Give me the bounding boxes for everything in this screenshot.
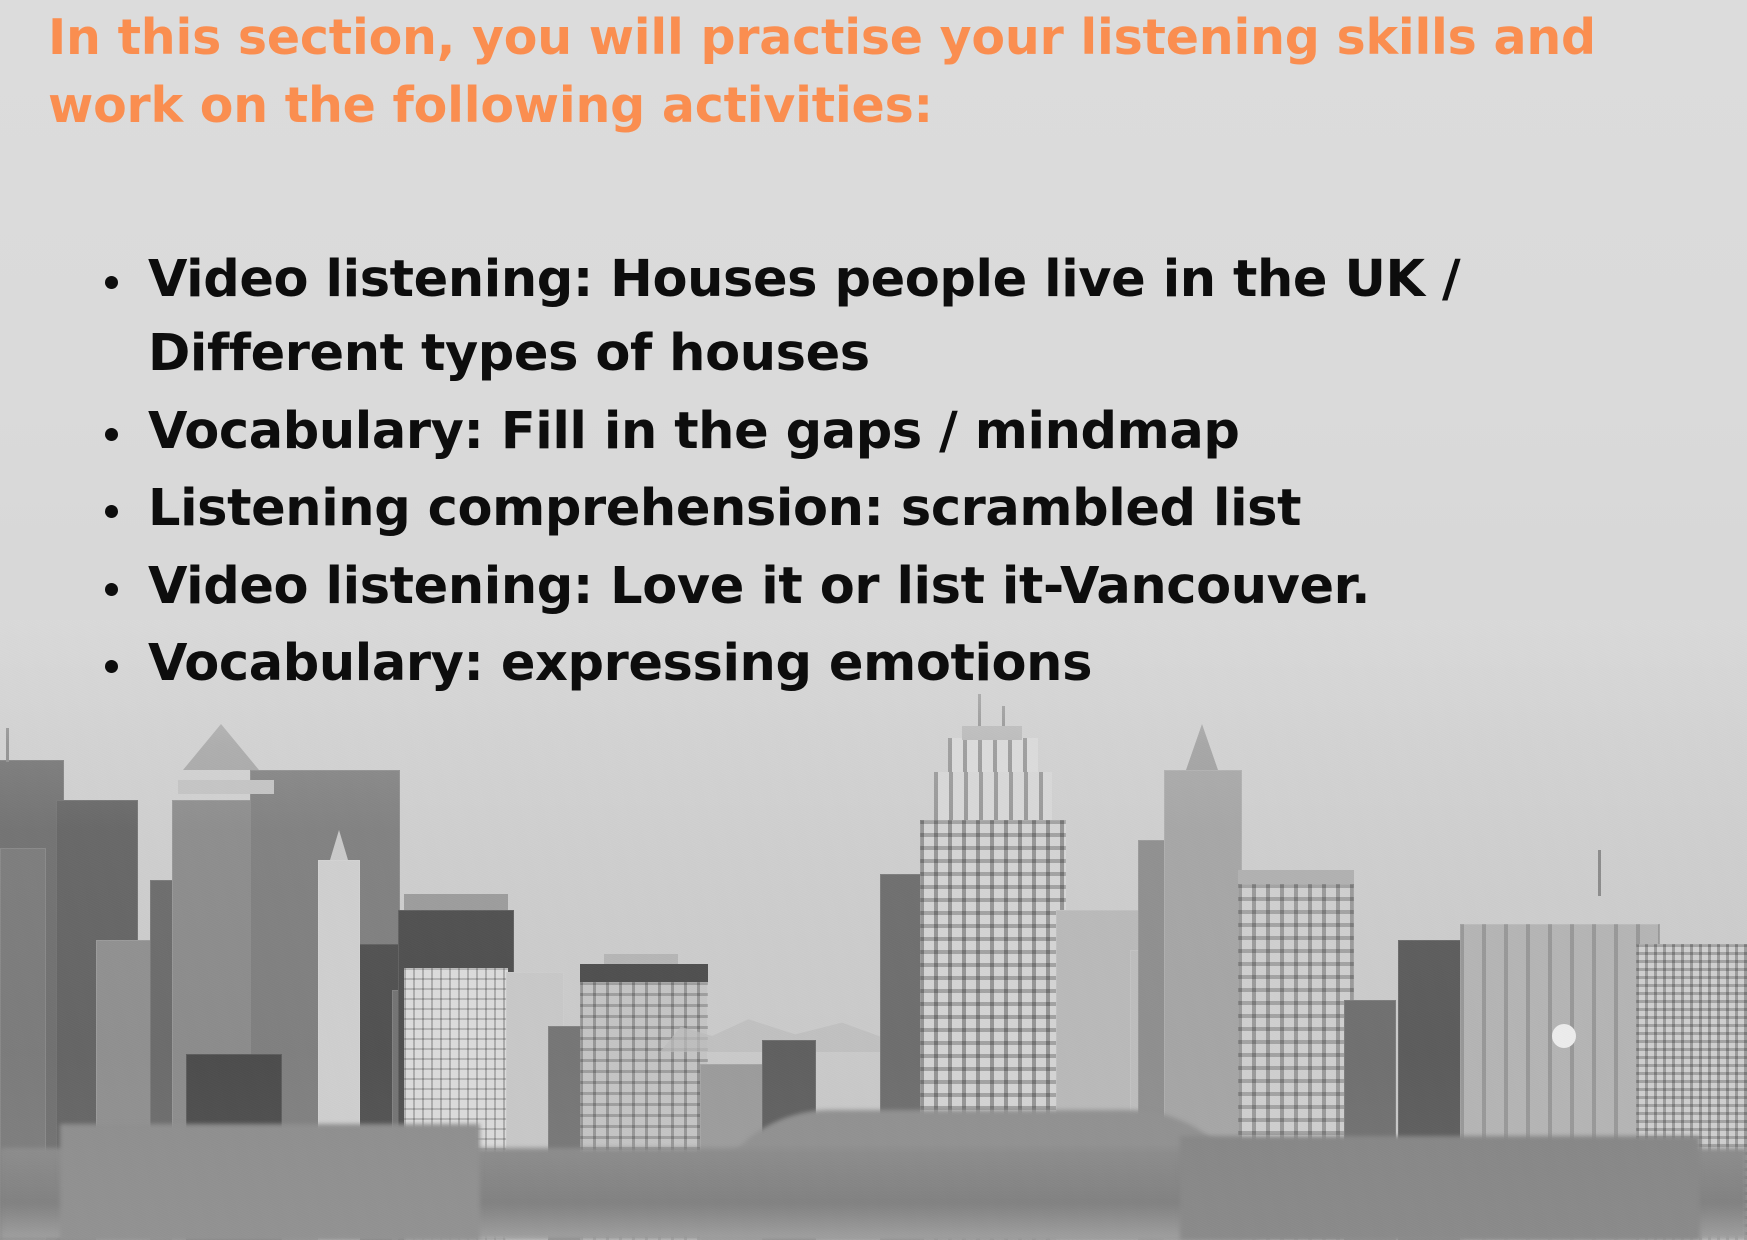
list-item: Video listening: Houses people live in t…	[148, 243, 1668, 392]
slide: In this section, you will practise your …	[0, 0, 1747, 1240]
section-heading: In this section, you will practise your …	[48, 4, 1608, 139]
list-item: Vocabulary: Fill in the gaps / mindmap	[148, 395, 1668, 469]
activities-list: Video listening: Houses people live in t…	[86, 243, 1668, 705]
list-item: Video listening: Love it or list it-Vanc…	[148, 550, 1668, 624]
slide-content: In this section, you will practise your …	[0, 0, 1747, 1240]
list-item: Vocabulary: expressing emotions	[148, 627, 1668, 701]
list-item: Listening comprehension: scrambled list	[148, 472, 1668, 546]
